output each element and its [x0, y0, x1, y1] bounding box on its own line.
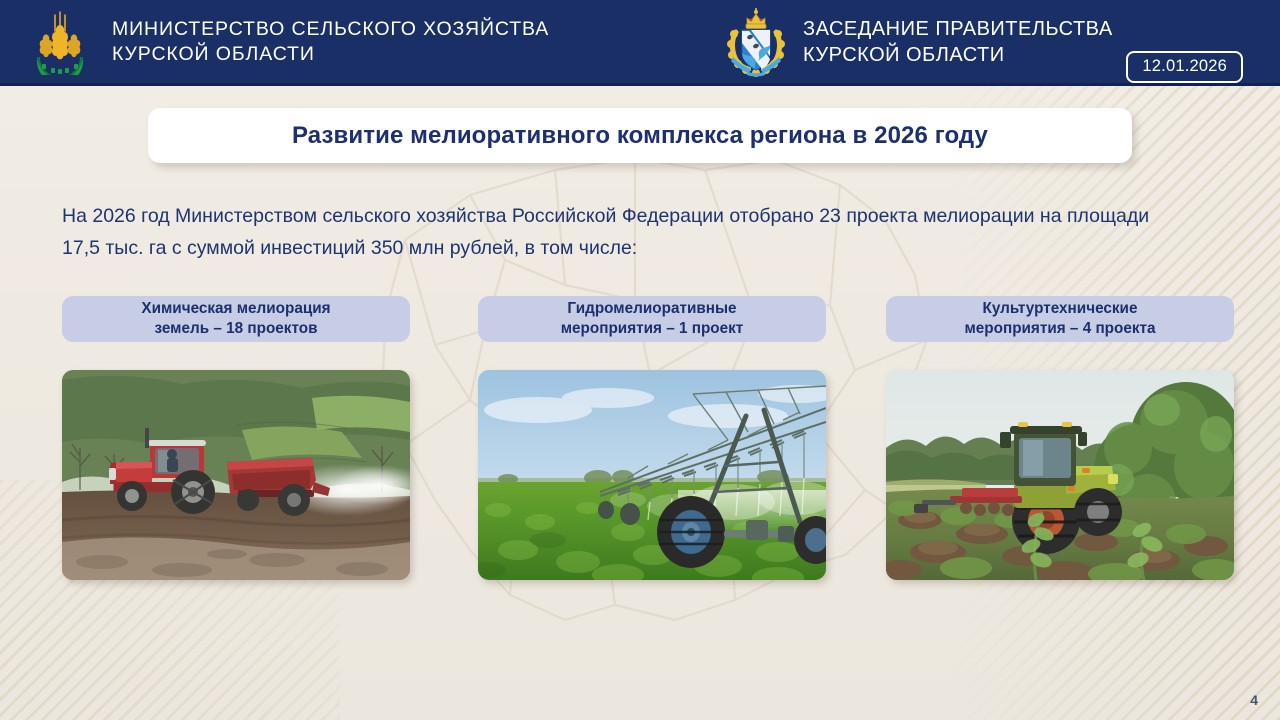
ministry-branding: МИНИСТЕРСТВО СЕЛЬСКОГО ХОЗЯЙСТВА КУРСКОЙ… — [0, 9, 700, 75]
date-badge: 12.01.2026 — [1126, 51, 1243, 83]
card-hydro-reclamation: Гидромелиоративные мероприятия – 1 проек… — [478, 296, 826, 580]
page-number: 4 — [1250, 692, 1258, 708]
card-chemical-reclamation: Химическая мелиорация земель – 18 проект… — [62, 296, 410, 580]
wheat-emblem-icon — [30, 9, 90, 75]
card-label-chemical-reclamation: Химическая мелиорация земель – 18 проект… — [62, 296, 410, 342]
slide-title-banner: Развитие мелиоративного комплекса регион… — [148, 108, 1132, 163]
card-label-cultural-technical: Культуртехнические мероприятия – 4 проек… — [886, 296, 1234, 342]
kursk-coat-of-arms-icon — [725, 7, 787, 77]
photo-chemical-reclamation-tractor-spreading-lime — [62, 370, 410, 580]
photo-irrigation-center-pivot-sprinkler — [478, 370, 826, 580]
meeting-branding: ЗАСЕДАНИЕ ПРАВИТЕЛЬСТВА КУРСКОЙ ОБЛАСТИ … — [700, 7, 1280, 77]
card-label-hydro-reclamation: Гидромелиоративные мероприятия – 1 проек… — [478, 296, 826, 342]
intro-paragraph: На 2026 год Министерством сельского хозя… — [62, 200, 1172, 264]
category-cards: Химическая мелиорация земель – 18 проект… — [0, 296, 1280, 596]
meeting-title: ЗАСЕДАНИЕ ПРАВИТЕЛЬСТВА КУРСКОЙ ОБЛАСТИ — [803, 16, 1113, 68]
page-title: Развитие мелиоративного комплекса регион… — [292, 122, 988, 150]
ministry-title: МИНИСТЕРСТВО СЕЛЬСКОГО ХОЗЯЙСТВА КУРСКОЙ… — [112, 17, 549, 67]
card-cultural-technical: Культуртехнические мероприятия – 4 проек… — [886, 296, 1234, 580]
presentation-slide: МИНИСТЕРСТВО СЕЛЬСКОГО ХОЗЯЙСТВА КУРСКОЙ… — [0, 0, 1280, 720]
slide-header: МИНИСТЕРСТВО СЕЛЬСКОГО ХОЗЯЙСТВА КУРСКОЙ… — [0, 0, 1280, 86]
photo-land-clearing-tractor-in-overgrown-field — [886, 370, 1234, 580]
